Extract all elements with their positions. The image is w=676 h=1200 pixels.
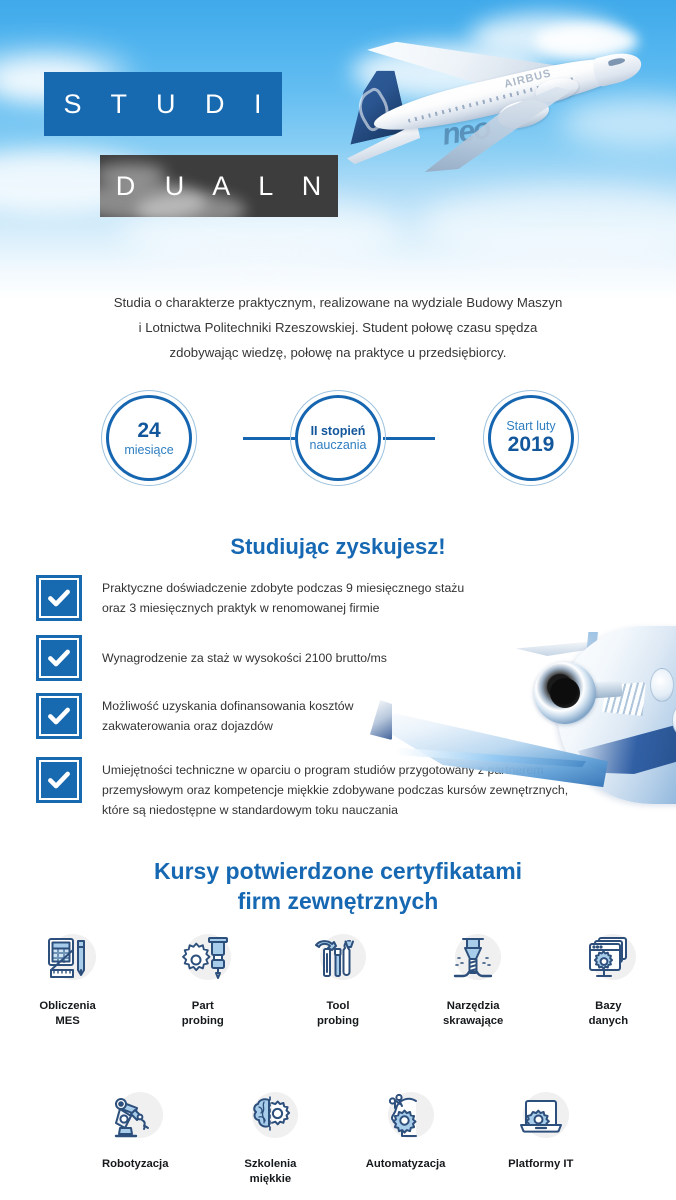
badge-connector-line xyxy=(383,437,435,440)
courses-heading-line-1: Kursy potwierdzone certyfikatami xyxy=(0,856,676,886)
course-item-tool-probing[interactable]: Tool probing xyxy=(270,930,405,1028)
course-label-line-1: Robotyzacja xyxy=(102,1157,169,1172)
course-label: Bazy danych xyxy=(589,999,629,1028)
check-icon xyxy=(36,693,82,739)
badge-duration: 24 miesiące xyxy=(101,390,197,486)
course-label-line-1: Automatyzacja xyxy=(366,1157,446,1172)
monitor-database-gear-icon xyxy=(574,930,642,990)
course-label: Obliczenia MES xyxy=(39,999,96,1028)
infographic-page: AIRBUS neo S T U D I A D U A L N E Studi… xyxy=(0,0,676,1200)
course-label: Robotyzacja xyxy=(102,1157,169,1172)
intro-line-2: i Lotnictwa Politechniki Rzeszowskiej. S… xyxy=(60,315,616,340)
course-label-line-2: miękkie xyxy=(244,1172,296,1187)
courses-section-heading: Kursy potwierdzone certyfikatami firm ze… xyxy=(0,856,676,916)
title-secondary-text: D U A L N E xyxy=(100,155,338,217)
benefit-line: Możliwość uzyskania dofinansowania koszt… xyxy=(102,696,354,716)
course-label: Part probing xyxy=(182,999,224,1028)
jet-winglet xyxy=(370,700,392,740)
course-label: Automatyzacja xyxy=(366,1157,446,1172)
laptop-gear-icon xyxy=(507,1088,575,1148)
course-item-robotyzacja[interactable]: Robotyzacja xyxy=(68,1088,203,1186)
benefit-text: Wynagrodzenie za staż w wysokości 2100 b… xyxy=(102,635,387,668)
course-item-bazy-danych[interactable]: Bazy danych xyxy=(541,930,676,1028)
course-label-line-1: Obliczenia xyxy=(39,999,96,1014)
course-label-line-1: Narzędzia xyxy=(443,999,503,1014)
course-item-szkolenia-miekkie[interactable]: Szkolenia miękkie xyxy=(203,1088,338,1186)
badge-start-date: Start luty 2019 xyxy=(483,390,579,486)
jet-window xyxy=(650,668,674,702)
head-gear-circuit-icon xyxy=(372,1088,440,1148)
course-label-line-1: Platformy IT xyxy=(508,1157,573,1172)
course-label-line-2: probing xyxy=(317,1014,359,1029)
check-icon xyxy=(36,635,82,681)
badge-duration-unit: miesiące xyxy=(124,443,173,457)
badge-start-date-year: 2019 xyxy=(508,433,555,457)
jet-engine-intake xyxy=(550,678,580,708)
check-icon xyxy=(36,575,82,621)
benefit-line: Wynagrodzenie za staż w wysokości 2100 b… xyxy=(102,648,387,668)
badge-duration-number: 24 xyxy=(137,419,160,443)
title-band-secondary: D U A L N E xyxy=(100,155,338,217)
course-label-line-2: MES xyxy=(39,1014,96,1029)
badge-degree-level-top: II stopień xyxy=(311,424,366,438)
course-label: Tool probing xyxy=(317,999,359,1028)
course-item-automatyzacja[interactable]: Automatyzacja xyxy=(338,1088,473,1186)
key-facts-badges: 24 miesiące II stopień nauczania Start l… xyxy=(0,390,676,490)
course-label: Szkolenia miękkie xyxy=(244,1157,296,1186)
course-label-line-1: Tool xyxy=(317,999,359,1014)
aircraft-nose xyxy=(591,49,644,88)
course-label-line-2: skrawające xyxy=(443,1014,503,1029)
course-label-line-2: danych xyxy=(589,1014,629,1029)
course-label-line-1: Szkolenia xyxy=(244,1157,296,1172)
course-label-line-2: probing xyxy=(182,1014,224,1029)
badge-degree-level: II stopień nauczania xyxy=(290,390,386,486)
intro-paragraph: Studia o charakterze praktycznym, realiz… xyxy=(60,290,616,365)
title-band-primary: S T U D I A xyxy=(44,72,282,136)
course-item-narzedzia-skrawajace[interactable]: Narzędzia skrawające xyxy=(406,930,541,1028)
gear-probe-icon xyxy=(169,930,237,990)
benefit-item: Możliwość uzyskania dofinansowania koszt… xyxy=(36,693,354,739)
course-item-platformy-it[interactable]: Platformy IT xyxy=(473,1088,608,1186)
calculator-ruler-pencil-icon xyxy=(34,930,102,990)
benefit-text: Możliwość uzyskania dofinansowania koszt… xyxy=(102,693,354,736)
course-label: Platformy IT xyxy=(508,1157,573,1172)
business-jet-image xyxy=(366,604,676,840)
course-label: Narzędzia skrawające xyxy=(443,999,503,1028)
gain-section-heading: Studiując zyskujesz! xyxy=(0,534,676,560)
intro-line-3: zdobywając wiedzę, połowę na praktyce u … xyxy=(60,340,616,365)
courses-heading-line-2: firm zewnętrznych xyxy=(0,886,676,916)
course-item-obliczenia-mes[interactable]: Obliczenia MES xyxy=(0,930,135,1028)
course-label-line-1: Part xyxy=(182,999,224,1014)
hero-sky-banner: AIRBUS neo S T U D I A D U A L N E xyxy=(0,0,676,300)
robot-arm-icon xyxy=(101,1088,169,1148)
check-icon xyxy=(36,757,82,803)
benefit-line: zakwaterowania oraz dojazdów xyxy=(102,716,354,736)
badge-connector-line xyxy=(243,437,295,440)
brain-gear-icon xyxy=(236,1088,304,1148)
courses-icon-row-2: Robotyzacja xyxy=(0,1088,676,1186)
hammer-wrench-screwdriver-icon xyxy=(304,930,372,990)
drill-cutting-tool-icon xyxy=(439,930,507,990)
course-item-part-probing[interactable]: Part probing xyxy=(135,930,270,1028)
intro-line-1: Studia o charakterze praktycznym, realiz… xyxy=(60,290,616,315)
courses-icon-row-1: Obliczenia MES xyxy=(0,930,676,1028)
benefit-line: Praktyczne doświadczenie zdobyte podczas… xyxy=(102,578,464,598)
benefit-item: Wynagrodzenie za staż w wysokości 2100 b… xyxy=(36,635,387,681)
course-label-line-1: Bazy xyxy=(589,999,629,1014)
badge-start-date-top: Start luty xyxy=(506,419,555,433)
badge-degree-level-bottom: nauczania xyxy=(310,438,367,452)
